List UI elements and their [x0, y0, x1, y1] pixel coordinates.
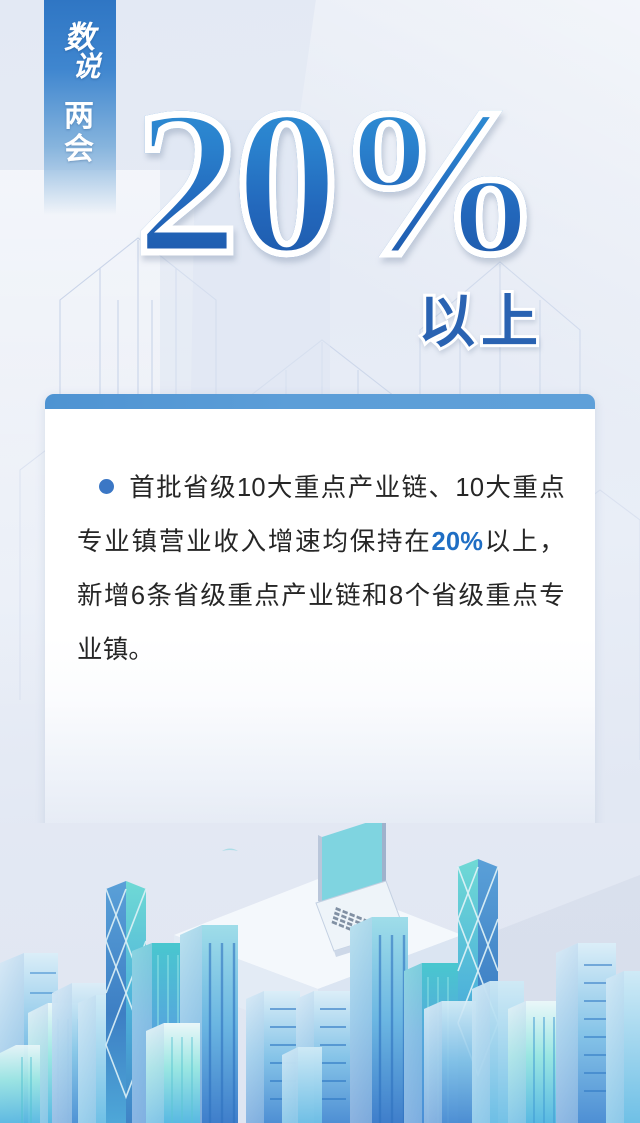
ribbon-char-4: 会	[44, 133, 116, 166]
card-paragraph: 首批省级10大重点产业链、10大重点专业镇营业收入增速均保持在20%以上，新增6…	[77, 461, 565, 677]
city-skyline-illustration	[0, 823, 640, 1123]
skyline-svg	[0, 823, 640, 1123]
ribbon-char-1: 数	[64, 20, 96, 55]
card-body: 首批省级10大重点产业链、10大重点专业镇营业收入增速均保持在20%以上，新增6…	[45, 409, 595, 846]
ribbon-char-3: 两	[44, 100, 116, 133]
headline-number: 20%	[135, 78, 575, 286]
brand-ribbon: 数 说 两 会	[44, 0, 116, 215]
content-card: 首批省级10大重点产业链、10大重点专业镇营业收入增速均保持在20%以上，新增6…	[45, 394, 595, 846]
card-top-bar	[45, 394, 595, 409]
headline-suffix: 以上	[418, 292, 544, 352]
ribbon-subtitle: 两 会	[44, 100, 116, 166]
headline-block: 20%	[135, 78, 575, 298]
ribbon-calligraphy: 数 说	[44, 22, 116, 84]
card-text-highlight: 20%	[432, 528, 484, 556]
bullet-icon	[99, 479, 114, 494]
ribbon-char-2: 说	[58, 52, 116, 84]
poster-canvas: 数 说 两 会 20% 以上 首批省级10大重点产业链、10大重点专业镇营业收入…	[0, 0, 640, 1123]
